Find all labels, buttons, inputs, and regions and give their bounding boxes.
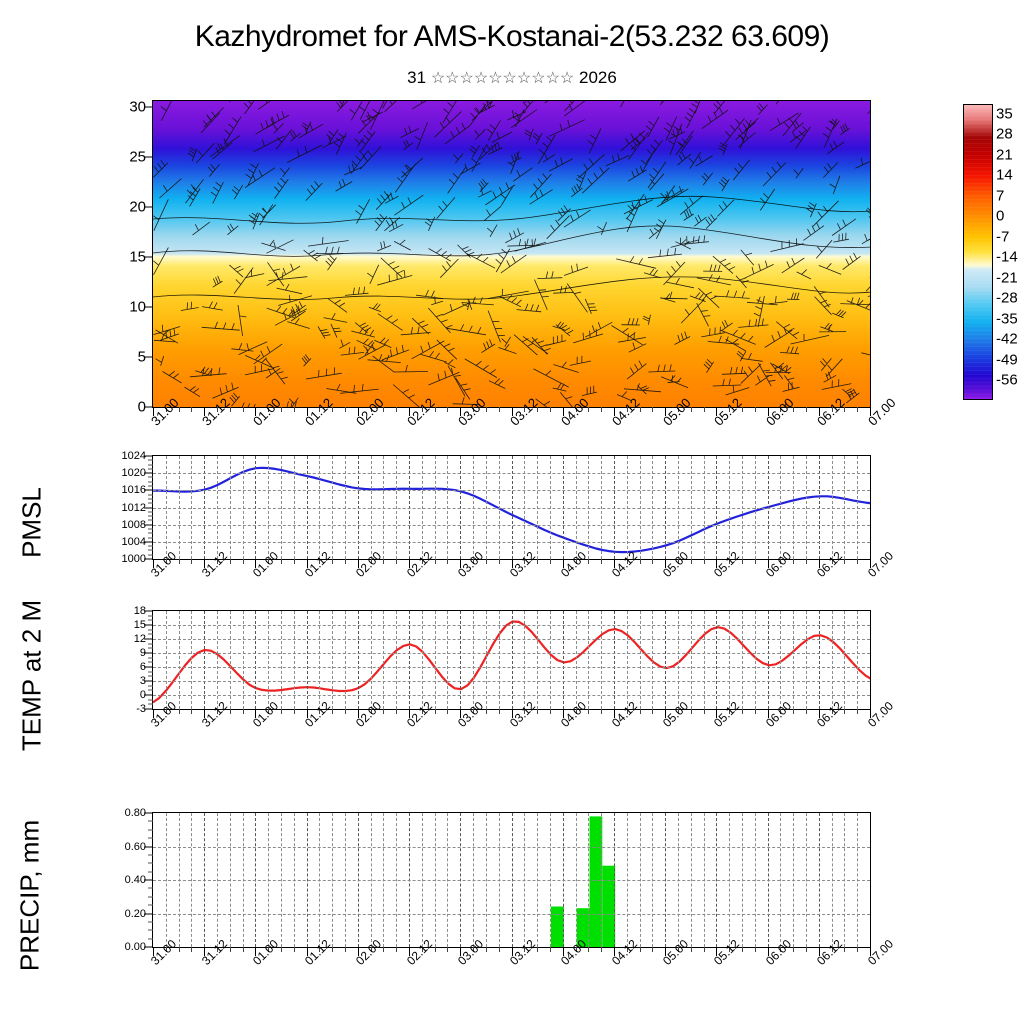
x-tick (230, 947, 231, 952)
y-tick-minor (148, 821, 153, 822)
y-tick-minor (148, 498, 153, 499)
x-tick (755, 947, 756, 952)
x-tick (345, 407, 346, 412)
h-gridline (153, 695, 870, 696)
colorbar-label: -28 (996, 290, 1018, 307)
h-gridline (153, 508, 870, 509)
x-tick (806, 709, 807, 714)
y-tick-minor (148, 537, 153, 538)
colorbar-tick-labels: 3528211470-7-14-21-28-35-42-49-56 (996, 104, 1024, 400)
x-tick (499, 407, 500, 412)
y-tick-minor (148, 648, 153, 649)
colorbar-label: 14 (996, 167, 1013, 184)
x-tick (704, 709, 705, 714)
temp-panel[interactable]: 31.0031.1201.0001.1202.0002.1203.0003.12… (152, 610, 871, 710)
y-tick-minor (148, 550, 153, 551)
cross-section-plot-area (153, 101, 870, 407)
y-tick-minor (148, 464, 153, 465)
y-tick-minor (148, 685, 153, 686)
x-tick (396, 407, 397, 412)
x-tick (588, 947, 589, 952)
y-tick-minor (148, 938, 153, 939)
y-axis-label: 5 (138, 349, 153, 366)
y-tick-minor (148, 863, 153, 864)
x-tick (588, 709, 589, 714)
x-tick (486, 559, 487, 564)
x-tick (704, 947, 705, 952)
y-tick-minor (148, 511, 153, 512)
y-tick-minor (148, 829, 153, 830)
y-tick-minor (148, 699, 153, 700)
y-tick-minor (148, 468, 153, 469)
h-gridline (153, 542, 870, 543)
x-tick (857, 709, 858, 714)
x-tick (230, 559, 231, 564)
y-tick-minor (148, 503, 153, 504)
x-tick (537, 947, 538, 952)
y-axis-label: 0.20 (125, 908, 153, 920)
colorbar-label: -7 (996, 228, 1009, 245)
y-axis-label: 20 (129, 199, 153, 216)
x-tick (447, 407, 448, 412)
colorbar-label: -42 (996, 331, 1018, 348)
x-tick (383, 709, 384, 714)
x-tick (179, 947, 180, 952)
h-gridline (153, 681, 870, 682)
x-tick (332, 947, 333, 952)
y-tick-minor (148, 676, 153, 677)
h-gridline (153, 880, 870, 881)
y-tick-minor (148, 921, 153, 922)
x-tick (652, 559, 653, 564)
x-tick (857, 947, 858, 952)
x-tick (435, 947, 436, 952)
x-tick (243, 407, 244, 412)
x-tick (191, 709, 192, 714)
y-axis-label: 0.00 (125, 941, 153, 953)
x-tick (396, 709, 397, 714)
y-axis-label: 15 (129, 249, 153, 266)
y-axis-label: 0 (138, 399, 153, 416)
h-gridline (153, 525, 870, 526)
x-tick (755, 559, 756, 564)
x-tick (742, 947, 743, 952)
colorbar-label: 21 (996, 146, 1013, 163)
y-axis-label: 25 (129, 149, 153, 166)
y-axis-label: 0.80 (125, 807, 153, 819)
y-tick-minor (148, 896, 153, 897)
colorbar-label: 0 (996, 208, 1004, 225)
x-tick (435, 559, 436, 564)
y-tick-minor (148, 671, 153, 672)
x-tick (691, 559, 692, 564)
x-tick (486, 947, 487, 952)
x-tick (857, 407, 858, 412)
x-tick (793, 709, 794, 714)
x-tick (601, 559, 602, 564)
x-tick (704, 559, 705, 564)
x-tick (396, 559, 397, 564)
x-tick (806, 559, 807, 564)
x-tick (793, 947, 794, 952)
y-tick-minor (148, 516, 153, 517)
x-tick (755, 407, 756, 412)
x-tick (601, 709, 602, 714)
y-tick-minor (148, 888, 153, 889)
x-tick (499, 709, 500, 714)
x-tick (396, 947, 397, 952)
precip-caption: PRECIP, mm (15, 771, 46, 1021)
x-tick (345, 709, 346, 714)
x-tick (243, 947, 244, 952)
y-tick-minor (148, 477, 153, 478)
colorbar-label: 35 (996, 106, 1013, 123)
colorbar-label: -35 (996, 310, 1018, 327)
y-tick-minor (148, 905, 153, 906)
x-tick (742, 559, 743, 564)
x-tick (640, 709, 641, 714)
x-tick (806, 407, 807, 412)
x-tick (294, 947, 295, 952)
x-tick (499, 947, 500, 952)
x-tick (281, 709, 282, 714)
x-tick (652, 709, 653, 714)
y-tick-minor (148, 662, 153, 663)
cross-section-panel[interactable]: 31.0031.1201.0001.1202.0002.1203.0003.12… (152, 100, 871, 408)
x-tick (793, 559, 794, 564)
x-tick (844, 559, 845, 564)
x-tick (294, 709, 295, 714)
page-title-text: Kazhydromet for AMS-Kostanai-2(53.232 63… (195, 20, 830, 53)
x-tick (550, 709, 551, 714)
temp-plot-area (153, 611, 870, 709)
x-tick (844, 947, 845, 952)
colorbar-label: 28 (996, 126, 1013, 143)
x-tick (486, 709, 487, 714)
x-tick (435, 709, 436, 714)
colorbar-label: -56 (996, 372, 1018, 389)
y-tick-minor (148, 533, 153, 534)
colorbar-label: -49 (996, 351, 1018, 368)
y-tick-minor (148, 657, 153, 658)
h-gridline (153, 490, 870, 491)
y-axis-label: 0.40 (125, 874, 153, 886)
subtitle-year: 2026 (579, 68, 617, 87)
h-gridline (153, 914, 870, 915)
x-tick (447, 709, 448, 714)
y-axis-label: 0.60 (125, 841, 153, 853)
y-tick-minor (148, 486, 153, 487)
x-tick (857, 559, 858, 564)
x-tick (191, 407, 192, 412)
h-gridline (153, 847, 870, 848)
x-tick (383, 947, 384, 952)
page-title: Kazhydromet for AMS-Kostanai-2(53.232 63… (0, 20, 1024, 54)
h-gridline (153, 653, 870, 654)
x-tick (691, 947, 692, 952)
x-tick (281, 559, 282, 564)
subtitle-date: 31 ☆☆☆☆☆☆☆☆☆☆ 2026 (0, 68, 1024, 88)
x-tick (601, 947, 602, 952)
x-tick (601, 407, 602, 412)
x-tick (755, 709, 756, 714)
x-tick (550, 947, 551, 952)
h-gridline (153, 625, 870, 626)
x-tick (550, 407, 551, 412)
y-tick-minor (148, 838, 153, 839)
y-tick-minor (148, 481, 153, 482)
cross-section-field (153, 101, 870, 407)
x-tick (652, 407, 653, 412)
y-tick-minor (148, 620, 153, 621)
x-tick (447, 947, 448, 952)
y-tick-minor (148, 546, 153, 547)
pmsl-panel[interactable]: 31.0031.1201.0001.1202.0002.1203.0003.12… (152, 455, 871, 560)
h-gridline (153, 667, 870, 668)
x-tick (191, 559, 192, 564)
y-tick-minor (148, 629, 153, 630)
y-tick-minor (148, 520, 153, 521)
x-tick (191, 947, 192, 952)
x-tick (588, 559, 589, 564)
precip-panel[interactable]: 31.0031.1201.0001.1202.0002.1203.0003.12… (152, 812, 871, 948)
x-tick (294, 559, 295, 564)
x-tick (345, 559, 346, 564)
y-axis-label: 30 (129, 99, 153, 116)
colorbar-label: -21 (996, 269, 1018, 286)
precip-plot-area (153, 813, 870, 947)
x-tick (383, 559, 384, 564)
h-gridline (153, 473, 870, 474)
x-tick (447, 559, 448, 564)
colorbar (963, 104, 993, 400)
pmsl-plot-area (153, 456, 870, 559)
y-tick-minor (148, 494, 153, 495)
x-tick (844, 709, 845, 714)
x-tick (332, 709, 333, 714)
y-tick-minor (148, 634, 153, 635)
x-tick (640, 559, 641, 564)
y-tick-minor (148, 554, 153, 555)
x-tick (652, 947, 653, 952)
x-tick (742, 709, 743, 714)
x-tick (345, 947, 346, 952)
y-tick-minor (148, 528, 153, 529)
x-tick (550, 559, 551, 564)
x-tick (230, 709, 231, 714)
y-tick-minor (148, 871, 153, 872)
x-tick (243, 709, 244, 714)
y-tick-minor (148, 643, 153, 644)
x-tick (537, 709, 538, 714)
y-tick-minor (148, 690, 153, 691)
x-tick (640, 947, 641, 952)
h-gridline (153, 639, 870, 640)
temp-caption: TEMP at 2 M (17, 561, 48, 791)
y-tick-minor (148, 615, 153, 616)
x-tick (691, 709, 692, 714)
y-tick-minor (148, 704, 153, 705)
x-tick (179, 709, 180, 714)
x-tick (537, 559, 538, 564)
x-tick (281, 947, 282, 952)
x-tick (499, 559, 500, 564)
x-tick (179, 559, 180, 564)
x-tick (294, 407, 295, 412)
y-tick-minor (148, 460, 153, 461)
y-tick-minor (148, 854, 153, 855)
x-tick (806, 947, 807, 952)
subtitle-day: 31 (407, 68, 426, 87)
x-tick (704, 407, 705, 412)
x-tick (243, 559, 244, 564)
x-axis-label: 07.00 (865, 395, 899, 429)
x-tick (332, 559, 333, 564)
subtitle-month-glyphs: ☆☆☆☆☆☆☆☆☆☆ (431, 70, 574, 87)
y-tick-minor (148, 930, 153, 931)
colorbar-label: 7 (996, 187, 1004, 204)
y-axis-label: 10 (129, 299, 153, 316)
colorbar-label: -14 (996, 249, 1018, 266)
